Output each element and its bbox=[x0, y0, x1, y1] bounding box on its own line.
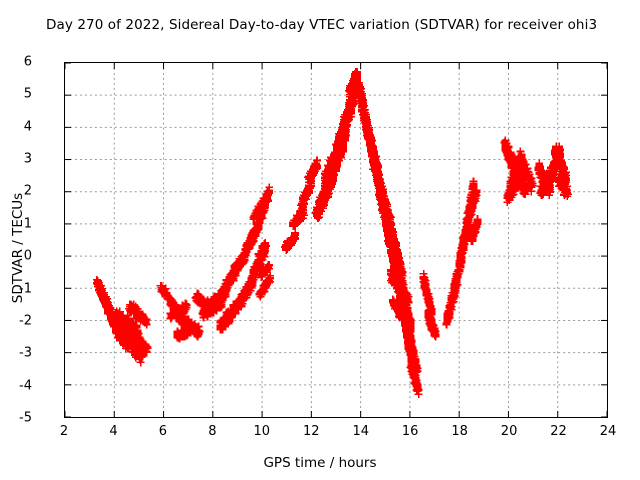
y-tick-label: 2 bbox=[0, 184, 32, 199]
x-tick-label: 20 bbox=[487, 424, 531, 439]
chart-canvas: Day 270 of 2022, Sidereal Day-to-day VTE… bbox=[0, 0, 640, 480]
x-tick-label: 18 bbox=[438, 424, 482, 439]
y-tick-label: -4 bbox=[0, 378, 32, 393]
x-tick-label: 14 bbox=[339, 424, 383, 439]
page-title: Day 270 of 2022, Sidereal Day-to-day VTE… bbox=[46, 17, 597, 33]
y-tick-label: 6 bbox=[0, 55, 32, 70]
y-tick-label: 3 bbox=[0, 152, 32, 167]
scatter-series-sdtvar bbox=[65, 63, 607, 417]
x-axis-title: GPS time / hours bbox=[0, 455, 640, 471]
x-tick-label: 16 bbox=[388, 424, 432, 439]
y-tick-label: -2 bbox=[0, 313, 32, 328]
x-tick-label: 6 bbox=[141, 424, 185, 439]
y-tick-label: 5 bbox=[0, 87, 32, 102]
x-tick-label: 8 bbox=[190, 424, 234, 439]
y-tick-label: -5 bbox=[0, 411, 32, 426]
scatter-points bbox=[93, 68, 572, 398]
y-tick-label: -3 bbox=[0, 346, 32, 361]
x-tick-label: 10 bbox=[240, 424, 284, 439]
x-tick-label: 12 bbox=[289, 424, 333, 439]
plot-area bbox=[64, 62, 608, 418]
y-tick-label: -1 bbox=[0, 281, 32, 296]
y-tick-label: 0 bbox=[0, 249, 32, 264]
y-tick-label: 4 bbox=[0, 119, 32, 134]
x-tick-label: 22 bbox=[537, 424, 581, 439]
x-tick-label: 2 bbox=[42, 424, 86, 439]
x-tick-label: 24 bbox=[586, 424, 630, 439]
x-tick-label: 4 bbox=[91, 424, 135, 439]
y-tick-label: 1 bbox=[0, 216, 32, 231]
